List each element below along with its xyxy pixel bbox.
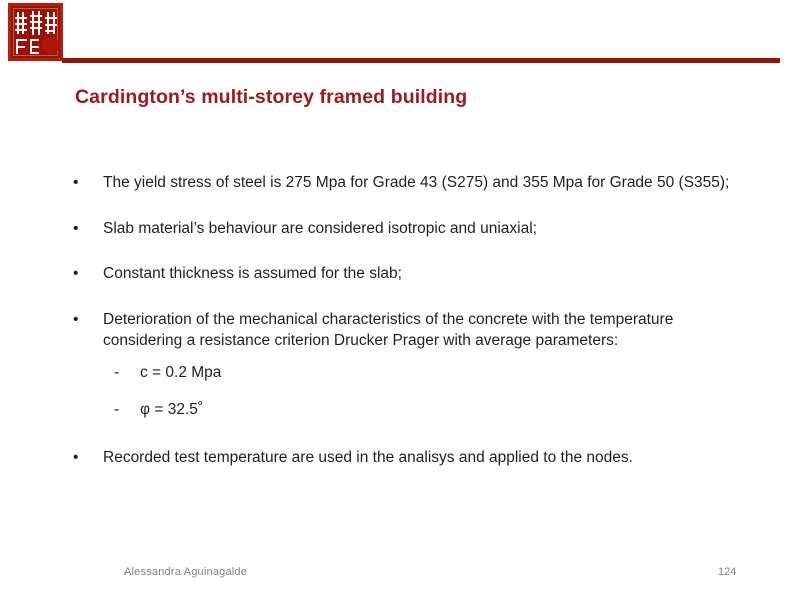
list-item-text: Constant thickness is assumed for the sl…: [103, 263, 743, 285]
seal-stroke: [16, 46, 25, 48]
footer-author: Alessandra Aguinagalde: [124, 566, 247, 578]
list-item: • Deterioration of the mechanical charac…: [0, 309, 800, 352]
sub-list-item: - φ = 32.5˚: [0, 399, 800, 421]
seal-stroke: [45, 30, 55, 32]
spacer: [0, 299, 800, 309]
list-item: • Recorded test temperature are used in …: [0, 447, 800, 469]
list-item-text: Recorded test temperature are used in th…: [103, 447, 743, 469]
bullet-marker-icon: •: [73, 263, 87, 285]
list-item-text: Deterioration of the mechanical characte…: [103, 309, 743, 352]
seal-stroke: [30, 21, 42, 23]
page-title: Cardington’s multi-storey framed buildin…: [75, 86, 755, 109]
spacer: [0, 437, 800, 447]
sub-list-item-text: φ = 32.5˚: [140, 401, 203, 418]
sub-list: - c = 0.2 Mpa - φ = 32.5˚: [0, 362, 800, 421]
seal-stroke: [45, 24, 57, 26]
spacer: [0, 253, 800, 263]
bullet-marker-icon: •: [73, 218, 87, 240]
header-divider: [62, 58, 780, 63]
bullet-marker-icon: •: [73, 172, 87, 194]
bullet-list: • The yield stress of steel is 275 Mpa f…: [0, 172, 800, 482]
list-item-text: Slab material’s behaviour are considered…: [103, 218, 743, 240]
footer-page-number: 124: [718, 566, 758, 578]
sub-list-item: - c = 0.2 Mpa: [0, 362, 800, 384]
spacer: [0, 389, 800, 399]
list-item: • Slab material’s behaviour are consider…: [0, 218, 800, 240]
list-item: • The yield stress of steel is 275 Mpa f…: [0, 172, 800, 194]
list-item: • Constant thickness is assumed for the …: [0, 263, 800, 285]
slide-canvas: Cardington’s multi-storey framed buildin…: [0, 0, 800, 600]
dash-marker-icon: -: [114, 362, 119, 384]
sub-list-item-text: c = 0.2 Mpa: [140, 364, 221, 381]
seal-stroke: [30, 52, 39, 54]
seal-stroke: [15, 17, 27, 19]
seal-stroke: [30, 39, 39, 41]
dash-marker-icon: -: [114, 399, 119, 421]
seal-stroke: [15, 29, 27, 31]
seal-circle-mark-icon: [42, 37, 59, 54]
seal-stroke: [30, 46, 39, 48]
spacer: [0, 208, 800, 218]
bullet-marker-icon: •: [73, 447, 87, 469]
red-seal-stamp-logo-icon: [8, 3, 63, 61]
seal-stroke: [15, 23, 27, 25]
bullet-marker-icon: •: [73, 309, 87, 331]
seal-stroke: [45, 17, 57, 19]
seal-stroke: [30, 27, 42, 29]
list-item-text: The yield stress of steel is 275 Mpa for…: [103, 172, 743, 194]
seal-stroke: [30, 15, 42, 17]
